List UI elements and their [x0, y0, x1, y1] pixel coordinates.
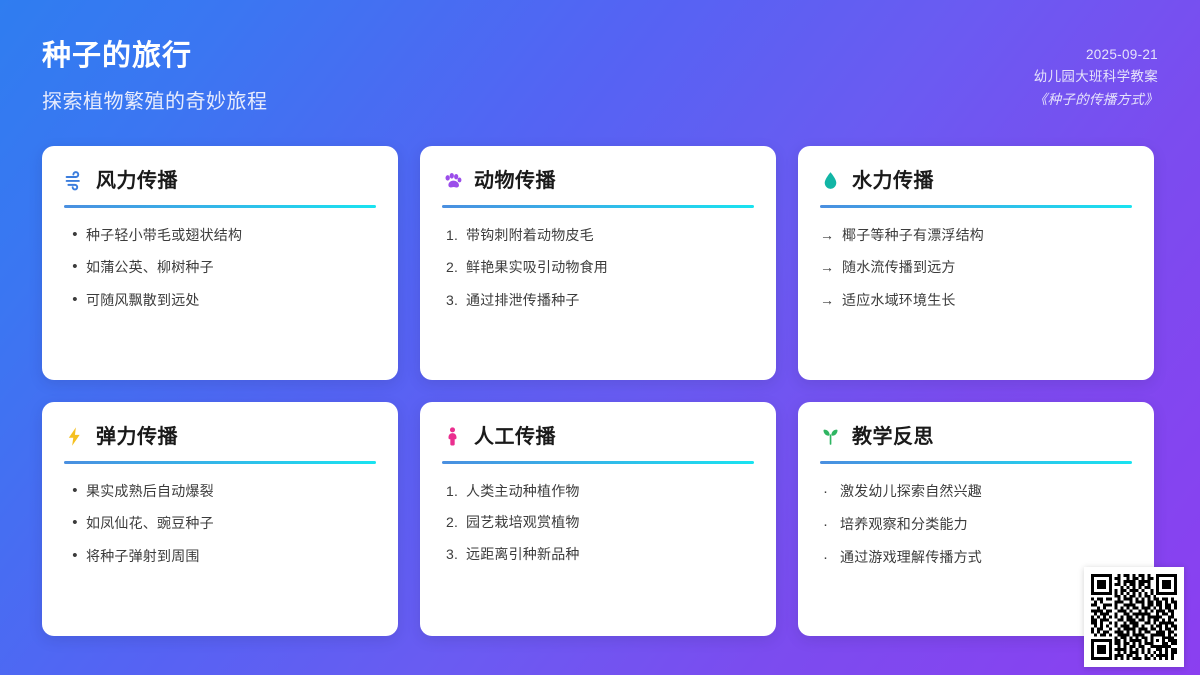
list-marker: 3.	[442, 544, 466, 564]
list-item: 1. 人类主动种植作物	[442, 481, 754, 501]
list-item: · 培养观察和分类能力	[820, 514, 1132, 536]
card-title: 动物传播	[474, 171, 556, 191]
card-grid: 风力传播 • 种子轻小带毛或翅状结构 • 如蒲公英、柳树种子 • 可随风飘散到远…	[42, 146, 1158, 636]
list-marker: •	[64, 481, 86, 501]
card-items: · 激发幼儿探索自然兴趣 · 培养观察和分类能力 · 通过游戏理解传播方式	[820, 481, 1132, 579]
list-item-text: 适应水域环境生长	[842, 290, 1132, 310]
list-item-text: 激发幼儿探索自然兴趣	[840, 481, 1132, 501]
list-item: → 随水流传播到远方	[820, 257, 1132, 277]
card-header: 教学反思	[820, 426, 1132, 447]
list-item: • 种子轻小带毛或翅状结构	[64, 225, 376, 245]
list-marker: →	[820, 257, 842, 277]
person-icon	[442, 426, 463, 447]
page-title: 种子的旅行	[42, 40, 268, 73]
card-water-dispersal[interactable]: 水力传播 → 椰子等种子有漂浮结构 → 随水流传播到远方 → 适应水域环境生长	[798, 146, 1154, 380]
slide-header: 种子的旅行 探索植物繁殖的奇妙旅程 2025-09-21 幼儿园大班科学教案 《…	[0, 0, 1200, 132]
card-items: 1. 带钩刺附着动物皮毛 2. 鲜艳果实吸引动物食用 3. 通过排泄传播种子	[442, 225, 754, 310]
card-title: 教学反思	[852, 427, 934, 447]
list-marker: •	[64, 546, 86, 566]
list-marker: →	[820, 290, 842, 310]
list-marker: 2.	[442, 512, 466, 532]
card-title: 弹力传播	[96, 427, 178, 447]
lightning-bolt-icon	[64, 426, 85, 447]
list-item-text: 通过游戏理解传播方式	[840, 547, 1132, 567]
card-divider	[442, 461, 754, 464]
card-items: • 果实成熟后自动爆裂 • 如凤仙花、豌豆种子 • 将种子弹射到周围	[64, 481, 376, 566]
card-header: 水力传播	[820, 170, 1132, 191]
card-divider	[64, 461, 376, 464]
page-subtitle: 探索植物繁殖的奇妙旅程	[42, 85, 268, 114]
card-title: 人工传播	[474, 427, 556, 447]
card-items: → 椰子等种子有漂浮结构 → 随水流传播到远方 → 适应水域环境生长	[820, 225, 1132, 310]
card-wind-dispersal[interactable]: 风力传播 • 种子轻小带毛或翅状结构 • 如蒲公英、柳树种子 • 可随风飘散到远…	[42, 146, 398, 380]
list-item: · 通过游戏理解传播方式	[820, 547, 1132, 569]
card-divider	[820, 461, 1132, 464]
list-marker: 1.	[442, 481, 466, 501]
sprout-icon	[820, 426, 841, 447]
header-title-block: 种子的旅行 探索植物繁殖的奇妙旅程	[42, 30, 268, 114]
card-title: 风力传播	[96, 171, 178, 191]
card-items: • 种子轻小带毛或翅状结构 • 如蒲公英、柳树种子 • 可随风飘散到远处	[64, 225, 376, 310]
list-item-text: 如凤仙花、豌豆种子	[86, 513, 376, 533]
card-header: 风力传播	[64, 170, 376, 191]
list-item-text: 果实成熟后自动爆裂	[86, 481, 376, 501]
list-item-text: 园艺栽培观赏植物	[466, 512, 754, 532]
list-item: → 椰子等种子有漂浮结构	[820, 225, 1132, 245]
list-item-text: 如蒲公英、柳树种子	[86, 257, 376, 277]
list-marker: →	[820, 225, 842, 245]
list-item-text: 远距离引种新品种	[466, 544, 754, 564]
list-item: 2. 鲜艳果实吸引动物食用	[442, 257, 754, 277]
card-elastic-dispersal[interactable]: 弹力传播 • 果实成熟后自动爆裂 • 如凤仙花、豌豆种子 • 将种子弹射到周围	[42, 402, 398, 636]
list-marker: •	[64, 513, 86, 533]
list-item: 1. 带钩刺附着动物皮毛	[442, 225, 754, 245]
card-divider	[64, 205, 376, 208]
card-header: 弹力传播	[64, 426, 376, 447]
lesson-topic: 《种子的传播方式》	[1034, 89, 1158, 111]
list-item: • 可随风飘散到远处	[64, 290, 376, 310]
list-item: → 适应水域环境生长	[820, 290, 1132, 310]
list-item: • 如凤仙花、豌豆种子	[64, 513, 376, 533]
list-item-text: 培养观察和分类能力	[840, 514, 1132, 534]
list-item-text: 人类主动种植作物	[466, 481, 754, 501]
list-marker: 2.	[442, 257, 466, 277]
card-items: 1. 人类主动种植作物 2. 园艺栽培观赏植物 3. 远距离引种新品种	[442, 481, 754, 575]
list-item-text: 通过排泄传播种子	[466, 290, 754, 310]
card-title: 水力传播	[852, 171, 934, 191]
card-header: 人工传播	[442, 426, 754, 447]
list-marker: •	[64, 290, 86, 310]
slide-date: 2025-09-21	[1034, 44, 1158, 66]
list-marker: ·	[820, 481, 840, 503]
list-item-text: 带钩刺附着动物皮毛	[466, 225, 754, 245]
card-divider	[820, 205, 1132, 208]
lesson-category: 幼儿园大班科学教案	[1034, 66, 1158, 88]
card-header: 动物传播	[442, 170, 754, 191]
list-item: 3. 远距离引种新品种	[442, 544, 754, 564]
qr-code[interactable]	[1084, 567, 1184, 667]
list-item-text: 将种子弹射到周围	[86, 546, 376, 566]
list-item: • 果实成熟后自动爆裂	[64, 481, 376, 501]
card-animal-dispersal[interactable]: 动物传播 1. 带钩刺附着动物皮毛 2. 鲜艳果实吸引动物食用 3. 通过排泄传…	[420, 146, 776, 380]
list-item-text: 鲜艳果实吸引动物食用	[466, 257, 754, 277]
water-drop-icon	[820, 170, 841, 191]
list-item: • 将种子弹射到周围	[64, 546, 376, 566]
list-item: • 如蒲公英、柳树种子	[64, 257, 376, 277]
header-meta-block: 2025-09-21 幼儿园大班科学教案 《种子的传播方式》	[1034, 30, 1158, 111]
card-human-dispersal[interactable]: 人工传播 1. 人类主动种植作物 2. 园艺栽培观赏植物 3. 远距离引种新品种	[420, 402, 776, 636]
list-marker: ·	[820, 514, 840, 536]
paw-icon	[442, 170, 463, 191]
list-marker: •	[64, 257, 86, 277]
card-divider	[442, 205, 754, 208]
list-item-text: 椰子等种子有漂浮结构	[842, 225, 1132, 245]
list-item: 3. 通过排泄传播种子	[442, 290, 754, 310]
list-item-text: 可随风飘散到远处	[86, 290, 376, 310]
list-marker: ·	[820, 547, 840, 569]
list-item-text: 种子轻小带毛或翅状结构	[86, 225, 376, 245]
list-marker: 3.	[442, 290, 466, 310]
list-marker: 1.	[442, 225, 466, 245]
list-item: · 激发幼儿探索自然兴趣	[820, 481, 1132, 503]
wind-icon	[64, 170, 85, 191]
list-item: 2. 园艺栽培观赏植物	[442, 512, 754, 532]
qr-code-image	[1091, 574, 1177, 660]
list-item-text: 随水流传播到远方	[842, 257, 1132, 277]
list-marker: •	[64, 225, 86, 245]
